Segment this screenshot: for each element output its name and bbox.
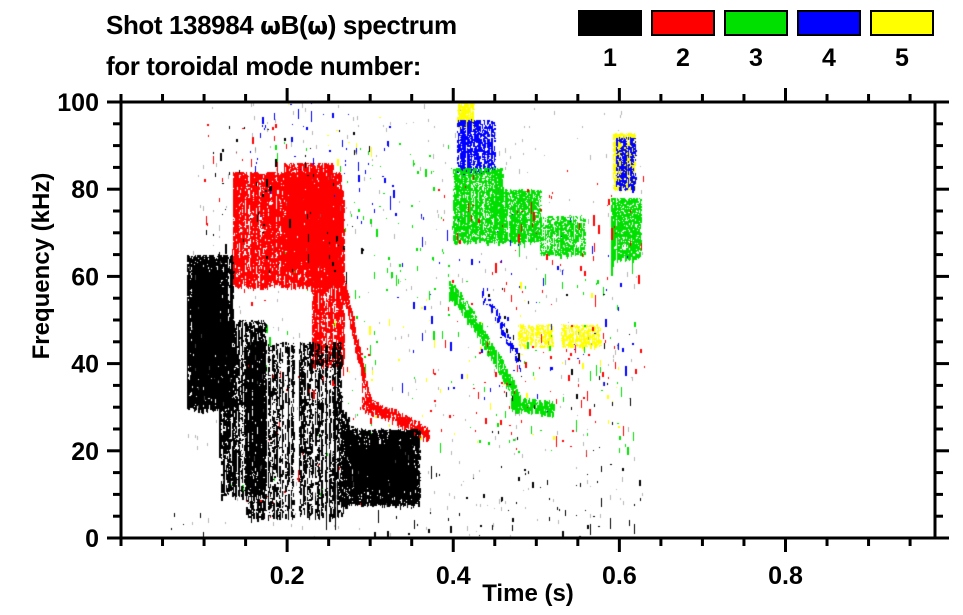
- legend-swatch-n2: [651, 10, 715, 36]
- spectrogram-figure: Shot 138984 ωB(ω) spectrum for toroidal …: [0, 0, 963, 615]
- y-tick-label: 40: [71, 351, 99, 379]
- legend-entry-n3[interactable]: 3: [724, 10, 788, 71]
- y-tick-label: 20: [71, 438, 99, 466]
- legend-entry-n1[interactable]: 1: [578, 10, 642, 71]
- title-b-text: B(: [281, 10, 308, 40]
- legend-swatch-n5: [870, 10, 934, 36]
- legend-label-n5: 5: [870, 46, 934, 71]
- plot-area: 0204060801000.20.40.60.8: [121, 102, 935, 538]
- legend-swatch-n3: [724, 10, 788, 36]
- page-title: Shot 138984 ωB(ω) spectrum: [106, 10, 457, 41]
- legend-entry-n5[interactable]: 5: [870, 10, 934, 71]
- legend: 12345: [578, 10, 958, 90]
- legend-swatch-n1: [578, 10, 642, 36]
- legend-entry-n2[interactable]: 2: [651, 10, 715, 71]
- y-axis-label: Frequency (kHz): [28, 146, 56, 386]
- omega-symbol-1: ω: [260, 12, 280, 40]
- y-tick-label: 100: [57, 89, 99, 117]
- omega-symbol-2: ω: [307, 12, 327, 40]
- y-tick-label: 80: [71, 176, 99, 204]
- legend-label-n1: 1: [578, 46, 642, 71]
- legend-entry-n4[interactable]: 4: [797, 10, 861, 71]
- y-tick-label: 60: [71, 263, 99, 291]
- y-tick-label: 0: [85, 525, 99, 553]
- page-subtitle: for toroidal mode number:: [106, 51, 421, 82]
- legend-swatch-n4: [797, 10, 861, 36]
- legend-label-n2: 2: [651, 46, 715, 71]
- legend-label-n3: 3: [724, 46, 788, 71]
- title-shot-text: Shot 138984: [106, 10, 260, 40]
- x-axis-label: Time (s): [121, 580, 935, 608]
- title-spectrum-text: ) spectrum: [328, 10, 457, 40]
- spectrogram-canvas: [121, 102, 935, 538]
- legend-label-n4: 4: [797, 46, 861, 71]
